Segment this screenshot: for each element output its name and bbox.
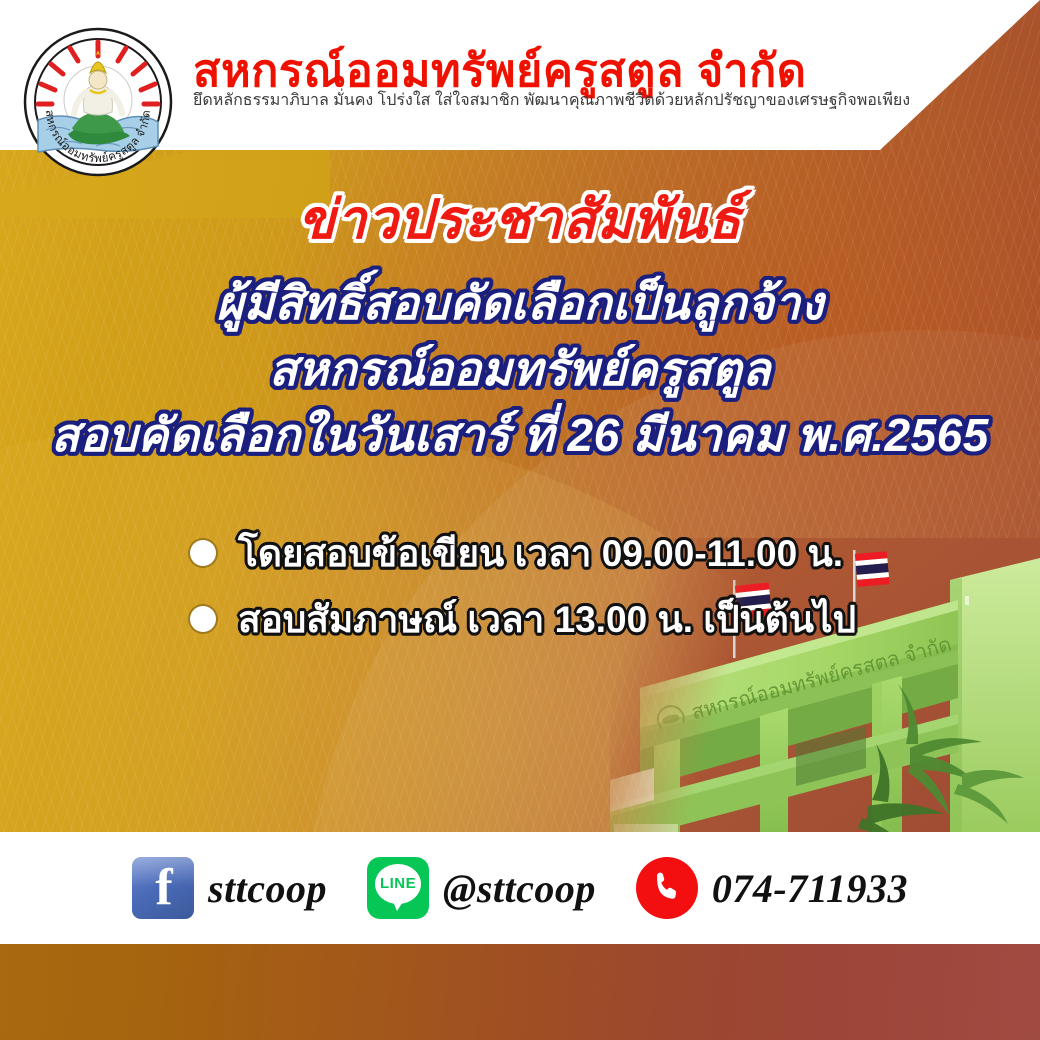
contact-phone[interactable]: 074-711933 (636, 857, 908, 919)
cooperative-logo: สหกรณ์ออมทรัพย์ครูสตูล จำกัด (22, 26, 174, 178)
list-item: โดยสอบข้อเขียน เวลา 09.00-11.00 น. (190, 524, 856, 582)
line-icon[interactable]: LINE (367, 857, 429, 919)
footer-gradient-bar (0, 944, 1040, 1040)
exam-interview-time: สอบสัมภาษณ์ เวลา 13.00 น. เป็นต้นไป (238, 590, 856, 649)
phone-icon[interactable] (636, 857, 698, 919)
phone-number: 074-711933 (712, 865, 908, 912)
exam-schedule-list: โดยสอบข้อเขียน เวลา 09.00-11.00 น. สอบสั… (190, 524, 856, 656)
facebook-icon[interactable]: f (132, 857, 194, 919)
bullet-dot-icon (190, 540, 216, 566)
line-icon-label: LINE (375, 864, 421, 904)
contact-bar: f sttcoop LINE @sttcoop 074-711933 (0, 832, 1040, 944)
brand-tagline: ยึดหลักธรรมาภิบาล มั่นคง โปร่งใส ใส่ใจสม… (193, 88, 910, 113)
announcement-line-3: สอบคัดเลือกในวันเสาร์ ที่ 26 มีนาคม พ.ศ.… (0, 402, 1040, 468)
list-item: สอบสัมภาษณ์ เวลา 13.00 น. เป็นต้นไป (190, 590, 856, 648)
bullet-dot-icon (190, 606, 216, 632)
announcement-line-1: ผู้มีสิทธิ์สอบคัดเลือกเป็นลูกจ้าง (0, 270, 1040, 336)
poster-root: สหกรณ์ออมทรัพย์ครูสตูล จำกัด (0, 0, 1040, 1040)
line-handle: @sttcoop (443, 865, 596, 912)
exam-written-time: โดยสอบข้อเขียน เวลา 09.00-11.00 น. (238, 524, 843, 583)
announcement-body: ผู้มีสิทธิ์สอบคัดเลือกเป็นลูกจ้าง สหกรณ์… (0, 270, 1040, 468)
announcement-line-2: สหกรณ์ออมทรัพย์ครูสตูล (0, 336, 1040, 402)
page-headline: ข่าวประชาสัมพันธ์ (0, 176, 1040, 262)
contact-line[interactable]: LINE @sttcoop (367, 857, 596, 919)
facebook-handle: sttcoop (208, 865, 327, 912)
facebook-glyph: f (132, 857, 194, 919)
contact-facebook[interactable]: f sttcoop (132, 857, 327, 919)
